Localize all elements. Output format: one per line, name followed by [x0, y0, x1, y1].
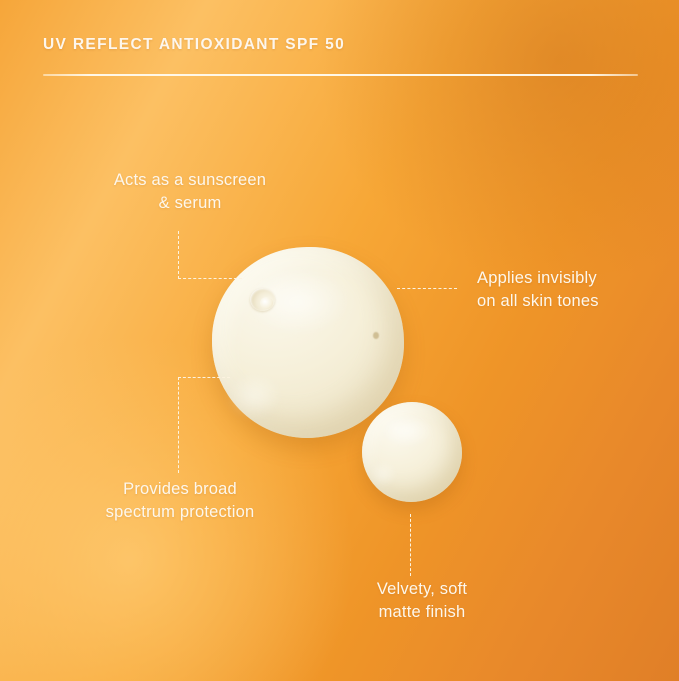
callout-line: & serum — [73, 192, 307, 215]
callout-line: matte finish — [332, 601, 512, 624]
title-divider — [43, 74, 638, 76]
callout-acts-as-sunscreen: Acts as a sunscreen & serum — [73, 169, 307, 215]
connector-top-left-vertical — [178, 231, 179, 279]
air-bubble-highlight-icon — [260, 297, 273, 309]
droplet-speck — [373, 332, 379, 339]
connector-bottom-left-vertical — [178, 377, 179, 473]
callout-applies-invisibly: Applies invisibly on all skin tones — [477, 267, 657, 313]
connector-bottom-left-horizontal — [178, 377, 230, 378]
callout-line: on all skin tones — [477, 290, 657, 313]
large-serum-droplet — [212, 247, 404, 438]
connector-top-left-horizontal — [178, 278, 242, 279]
callout-broad-spectrum: Provides broad spectrum protection — [65, 478, 295, 524]
droplet-rim-light — [218, 365, 290, 427]
connector-right-horizontal — [397, 288, 457, 289]
droplet-rim-light — [365, 457, 401, 491]
small-serum-droplet — [362, 402, 462, 502]
callout-line: Applies invisibly — [477, 267, 657, 290]
droplet-sheen — [374, 410, 440, 452]
callout-matte-finish: Velvety, soft matte finish — [332, 578, 512, 624]
callout-line: Provides broad — [65, 478, 295, 501]
callout-line: spectrum protection — [65, 501, 295, 524]
callout-line: Velvety, soft — [332, 578, 512, 601]
callout-line: Acts as a sunscreen — [73, 169, 307, 192]
connector-bottom-vertical — [410, 514, 411, 576]
product-feature-infographic: UV REFLECT ANTIOXIDANT SPF 50 Acts as a … — [0, 0, 679, 681]
page-title: UV REFLECT ANTIOXIDANT SPF 50 — [43, 36, 345, 54]
